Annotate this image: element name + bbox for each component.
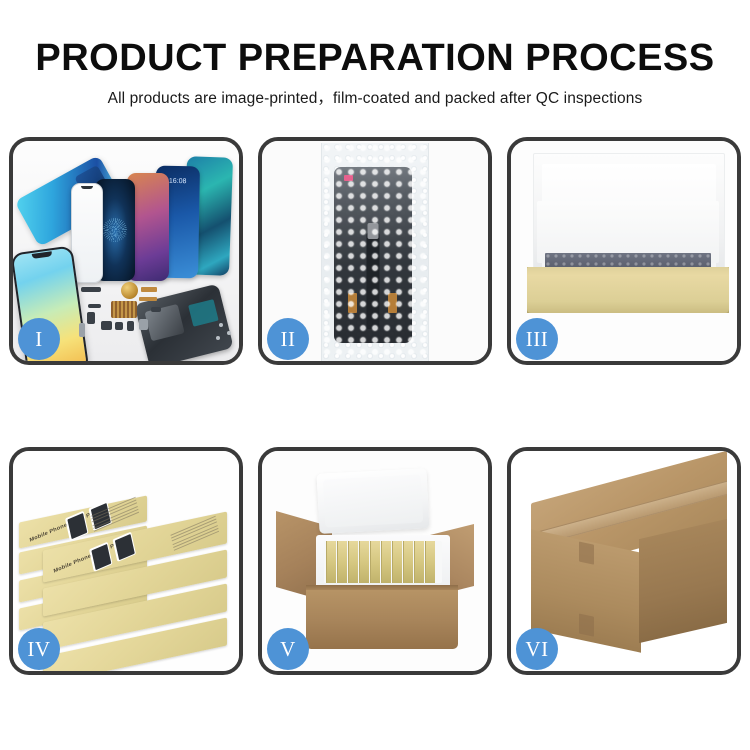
screw-icon xyxy=(227,331,231,335)
step-panel-2: II xyxy=(258,137,492,365)
phone-notch xyxy=(32,251,53,259)
step-badge-3: III xyxy=(516,318,558,360)
carton-flap-seam-top xyxy=(579,542,594,565)
process-step-grid: 16:08 xyxy=(9,137,741,675)
lcd-flex-tape-right xyxy=(388,293,397,313)
spare-part-antenna xyxy=(151,307,161,312)
packed-yellow-box xyxy=(392,541,402,583)
lcd-flex-tape-left xyxy=(348,293,357,313)
lcd-screen-inside-bag xyxy=(334,167,412,343)
spare-part-speaker-mesh xyxy=(111,301,137,318)
page-header: PRODUCT PREPARATION PROCESS All products… xyxy=(0,0,750,109)
phone-notch xyxy=(81,186,93,189)
foam-case-cavity xyxy=(324,541,442,583)
step-badge-4: IV xyxy=(18,628,60,670)
packed-yellow-box xyxy=(414,541,424,583)
screw-icon xyxy=(216,336,220,340)
step-panel-1: 16:08 xyxy=(9,137,243,365)
carton-flap-seam-bottom xyxy=(579,614,594,637)
packed-yellow-box xyxy=(326,541,336,583)
spare-part-flex-cable-1 xyxy=(141,287,157,292)
spare-part-chip-2 xyxy=(115,322,123,330)
step-panel-4: Mobile Phone Spare Parts xyxy=(9,447,243,675)
spare-part-flex-cable-2 xyxy=(139,297,157,301)
carton-body-open xyxy=(306,585,458,649)
box-spec-lines xyxy=(171,516,220,553)
packed-yellow-box xyxy=(359,541,369,583)
step-panel-6: VI xyxy=(507,447,741,675)
packed-yellow-box xyxy=(348,541,358,583)
carton-side-face xyxy=(639,519,727,643)
tempered-glass-protector xyxy=(71,183,103,283)
packed-yellow-box xyxy=(370,541,380,583)
step-badge-2: II xyxy=(267,318,309,360)
page-title: PRODUCT PREPARATION PROCESS xyxy=(0,0,750,80)
spare-part-shield-can xyxy=(139,319,148,330)
step-badge-5: V xyxy=(267,628,309,670)
stacked-box xyxy=(43,637,227,665)
packed-yellow-box xyxy=(381,541,391,583)
spare-part-vibrator-motor xyxy=(121,282,138,299)
foam-case-lid xyxy=(317,468,430,534)
box-screen-image xyxy=(89,542,113,572)
spare-part-battery-connector xyxy=(81,287,101,292)
packed-yellow-box xyxy=(337,541,347,583)
packed-yellow-box xyxy=(425,541,435,583)
step-panel-5: V xyxy=(258,447,492,675)
step-badge-1: I xyxy=(18,318,60,360)
screw-icon xyxy=(219,323,223,327)
page-subtitle: All products are image-printed，film-coat… xyxy=(0,80,750,109)
packed-yellow-box xyxy=(403,541,413,583)
spare-part-chip-1 xyxy=(101,321,112,330)
qc-sticker xyxy=(344,175,353,181)
step-badge-6: VI xyxy=(516,628,558,670)
bubble-wrap-bag xyxy=(321,143,429,361)
spare-part-bracket xyxy=(88,304,101,308)
spare-part-sim-tray xyxy=(79,323,85,337)
spare-part-camera-module xyxy=(87,312,95,324)
step-panel-3: III xyxy=(507,137,741,365)
inner-box-yellow-tray xyxy=(527,267,729,313)
box-screen-image xyxy=(112,532,136,562)
spare-part-chip-3 xyxy=(127,321,134,331)
